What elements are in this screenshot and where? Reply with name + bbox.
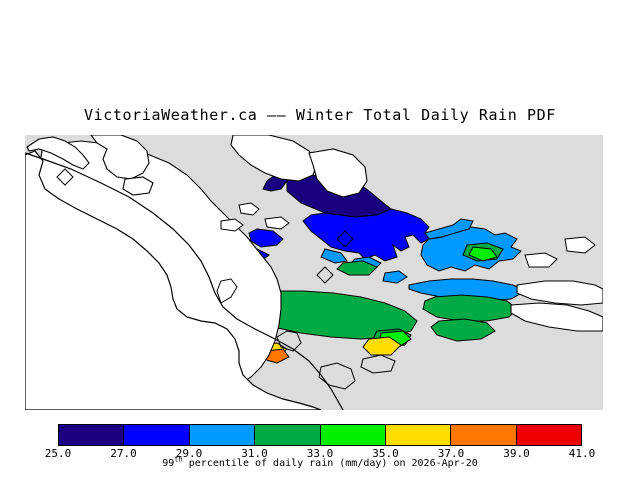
colorbar-band-0[interactable]: [59, 425, 124, 445]
page-title: VictoriaWeather.ca —— Winter Total Daily…: [0, 106, 640, 124]
contour-map-svg: [25, 135, 603, 410]
colorbar-band-5[interactable]: [386, 425, 451, 445]
colorbar-band-7[interactable]: [517, 425, 581, 445]
colorbar-container: 25.027.029.031.033.035.037.039.041.0: [58, 424, 582, 446]
colorbar-caption: 99th percentile of daily rain (mm/day) o…: [0, 458, 640, 469]
caption-superscript: th: [174, 456, 182, 464]
colorbar-band-3[interactable]: [255, 425, 320, 445]
weather-map-page: VictoriaWeather.ca —— Winter Total Daily…: [0, 0, 640, 480]
caption-percentile: 99: [162, 458, 174, 469]
colorbar[interactable]: [58, 424, 582, 446]
landmass-nw-island-b: [123, 177, 153, 195]
colorbar-band-1[interactable]: [124, 425, 189, 445]
map-canvas[interactable]: [25, 135, 603, 410]
colorbar-band-6[interactable]: [451, 425, 516, 445]
caption-suffix: percentile of daily rain (mm/day) on 202…: [183, 458, 478, 469]
colorbar-band-4[interactable]: [321, 425, 386, 445]
colorbar-band-2[interactable]: [190, 425, 255, 445]
